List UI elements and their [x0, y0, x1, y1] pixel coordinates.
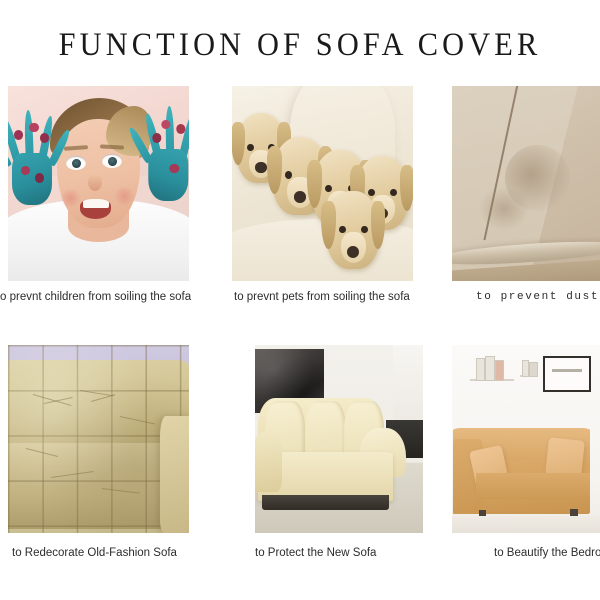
- photo-prevent-dust: [452, 86, 600, 281]
- covered-sofa-bedroom-illustration: [452, 345, 600, 533]
- new-cream-sofa-illustration: [255, 345, 423, 533]
- caption-prevent-pets-soiling: to prevnt pets from soiling the sofa: [234, 290, 410, 304]
- photo-prevent-children-soiling: [8, 86, 189, 281]
- caption-protect-new-sofa: to Protect the New Sofa: [255, 546, 376, 560]
- worn-leather-sofa-illustration: [8, 345, 189, 533]
- photo-redecorate-old-sofa: [8, 345, 189, 533]
- puppies-on-sofa-illustration: [232, 86, 413, 281]
- page-title: FUNCTION OF SOFA COVER: [24, 26, 576, 64]
- infographic-page: FUNCTION OF SOFA COVER: [0, 0, 600, 600]
- photo-prevent-pets-soiling: [232, 86, 413, 281]
- caption-prevent-children-soiling: o prevnt children from soiling the sofa: [0, 290, 191, 304]
- photo-beautify-bedroom: [452, 345, 600, 533]
- caption-prevent-dust: to prevent dust: [476, 290, 599, 304]
- caption-beautify-bedroom: to Beautify the Bedroom: [494, 546, 600, 560]
- dusty-cushion-illustration: [452, 86, 600, 281]
- photo-protect-new-sofa: [255, 345, 423, 533]
- child-paint-hands-illustration: [8, 86, 189, 281]
- caption-redecorate-old-sofa: to Redecorate Old-Fashion Sofa: [12, 546, 177, 560]
